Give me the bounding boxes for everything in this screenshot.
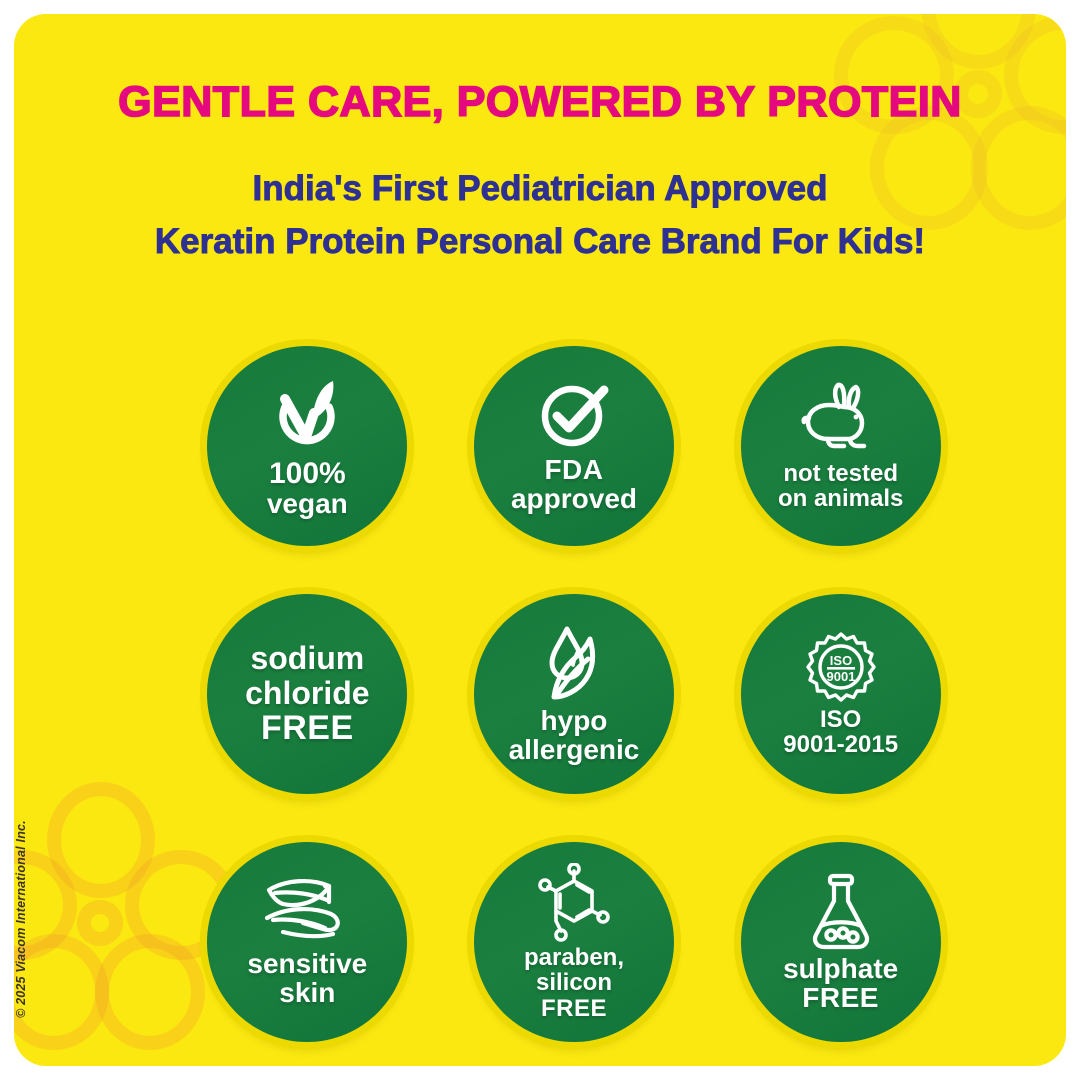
page-title: GENTLE CARE, POWERED BY PROTEIN (14, 78, 1066, 127)
rabbit-icon (798, 381, 884, 459)
subtitle-line-1: India's First Pediatrician Approved (14, 162, 1066, 215)
badge-vegan: 100% vegan (207, 346, 407, 546)
badge-caption: 100% vegan (261, 459, 354, 518)
badge-paraben-silicon-free: paraben, silicon FREE (474, 842, 674, 1042)
flask-icon (804, 871, 878, 953)
badge-caption: paraben, silicon FREE (518, 945, 630, 1021)
badge-iso-9001-2015: ISO 9001 ISO 9001-2015 (741, 594, 941, 794)
badge-not-tested-on-animals: not tested on animals (741, 346, 941, 546)
badge-hypo-allergenic: hypo allergenic (474, 594, 674, 794)
check-circle-icon (536, 378, 612, 454)
badge-sodium-chloride-free: sodium chloride FREE (207, 594, 407, 794)
page-subtitle: India's First Pediatrician Approved Kera… (14, 162, 1066, 268)
badge-caption: not tested on animals (772, 461, 909, 512)
vegan-leaf-check-icon (265, 373, 349, 457)
badge-caption: sulphate FREE (777, 955, 904, 1012)
molecule-icon (534, 863, 614, 943)
badge-caption: FDA approved (505, 456, 643, 513)
badge-fda-approved: FDA approved (474, 346, 674, 546)
poster-card: GENTLE CARE, POWERED BY PROTEIN India's … (14, 14, 1066, 1066)
badge-sulphate-free: sulphate FREE (741, 842, 941, 1042)
droplet-leaf-icon (534, 623, 614, 705)
iso-seal-icon: ISO 9001 (804, 631, 878, 705)
copyright-notice: © 2025 Viacom International Inc. (14, 820, 28, 1018)
svg-text:9001: 9001 (826, 669, 855, 684)
svg-text:ISO: ISO (829, 653, 851, 668)
badge-sensitive-skin: sensitive skin (207, 842, 407, 1042)
badge-caption: ISO 9001-2015 (777, 707, 904, 758)
badge-caption: sodium chloride FREE (239, 641, 375, 747)
hand-leaf-icon (259, 876, 355, 948)
badge-caption: sensitive skin (241, 950, 373, 1007)
certification-badge-grid: 100% vegan FDA approved (174, 322, 974, 1066)
badge-caption: hypo allergenic (503, 707, 646, 764)
subtitle-line-2: Keratin Protein Personal Care Brand For … (14, 215, 1066, 268)
